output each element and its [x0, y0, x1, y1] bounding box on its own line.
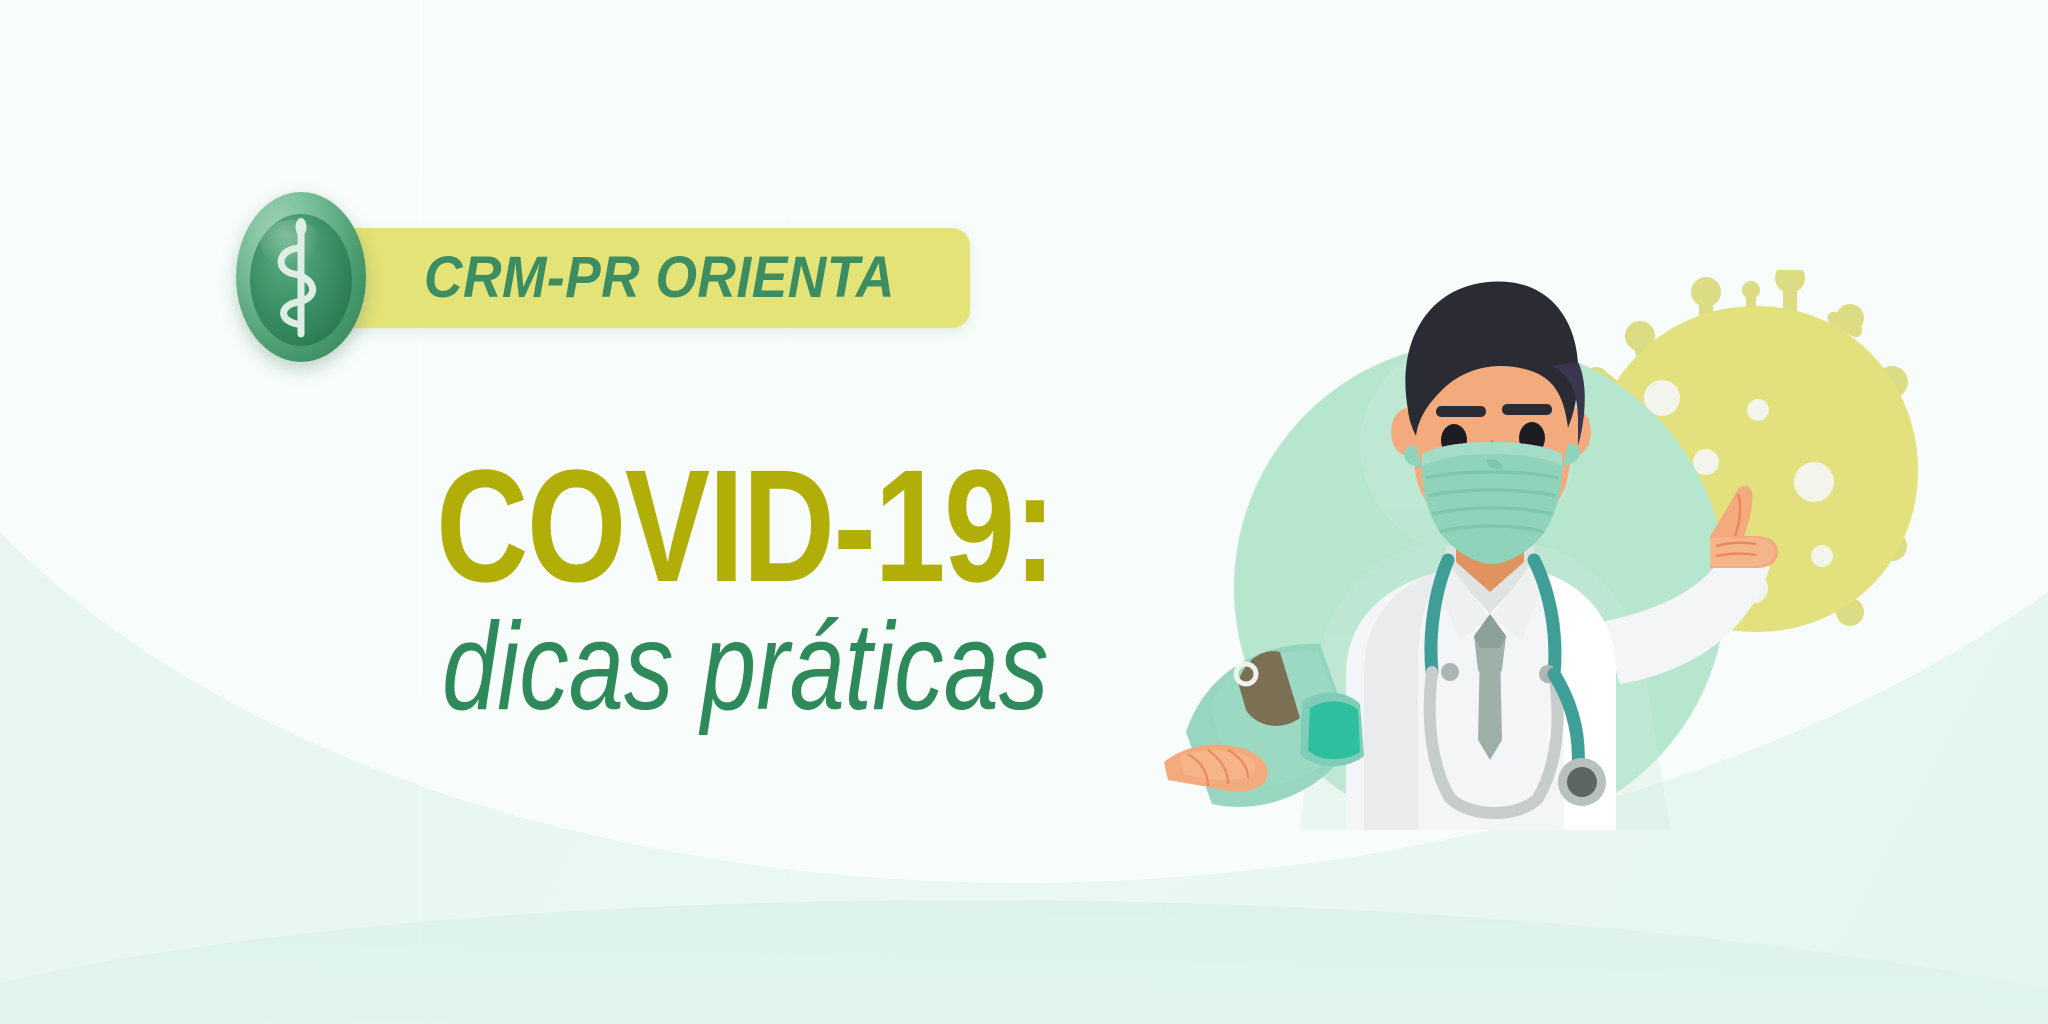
doctor-illustration [1150, 270, 1970, 830]
page-subtitle: dicas práticas [442, 605, 1056, 729]
crm-pr-orienta-badge: CRM-PR ORIENTA [236, 228, 970, 328]
background-streak [420, 0, 422, 1024]
crm-pr-logo [236, 192, 366, 362]
headline-block: COVID-19: dicas práticas [436, 452, 1209, 729]
badge-yellow-bar: CRM-PR ORIENTA [314, 228, 970, 328]
rod-of-asclepius-icon [250, 214, 352, 346]
page-title: COVID-19: [436, 452, 1055, 599]
poster-canvas: CRM-PR ORIENTA COVID-19: dicas práticas [0, 0, 2048, 1024]
badge-label: CRM-PR ORIENTA [424, 249, 895, 307]
